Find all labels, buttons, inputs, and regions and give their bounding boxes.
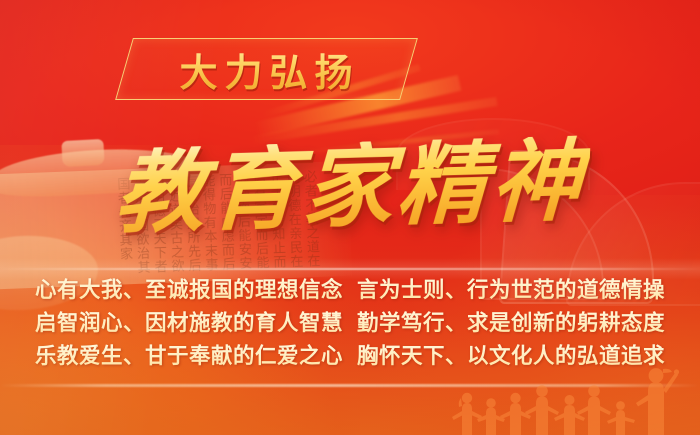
main-title-area: 教育家精神 [0, 122, 700, 252]
slogan-row: 启智润心、因材施教的育人智慧 勤学笃行、求是创新的躬耕态度 [35, 309, 665, 338]
slogan-right-1: 言为士则、行为世范的道德情操 [357, 276, 665, 305]
slogan-right-2: 勤学笃行、求是创新的躬耕态度 [357, 309, 665, 338]
slogan-block: 心有大我、至诚报国的理想信念 言为士则、行为世范的道德情操 启智润心、因材施教的… [0, 276, 700, 371]
slogan-left-2: 启智润心、因材施教的育人智慧 [35, 309, 343, 338]
banner-label: 大力弘扬 [124, 38, 409, 100]
slogan-row: 心有大我、至诚报国的理想信念 言为士则、行为世范的道德情操 [35, 276, 665, 305]
slogan-left-3: 乐教爱生、甘于奉献的仁爱之心 [35, 342, 343, 371]
slogan-left-1: 心有大我、至诚报国的理想信念 [35, 276, 343, 305]
slogan-row: 乐教爱生、甘于奉献的仁爱之心 胸怀天下、以文化人的弘道追求 [35, 342, 665, 371]
headline-banner: 大力弘扬 [124, 38, 409, 100]
slogan-right-3: 胸怀天下、以文化人的弘道追求 [357, 342, 665, 371]
poster-canvas: 必者不教之道在明明德在亲民在止于至善知止而后有定定而后能静静而后能安安而后能虑虑… [0, 0, 700, 435]
main-title: 教育家精神 [109, 135, 591, 238]
